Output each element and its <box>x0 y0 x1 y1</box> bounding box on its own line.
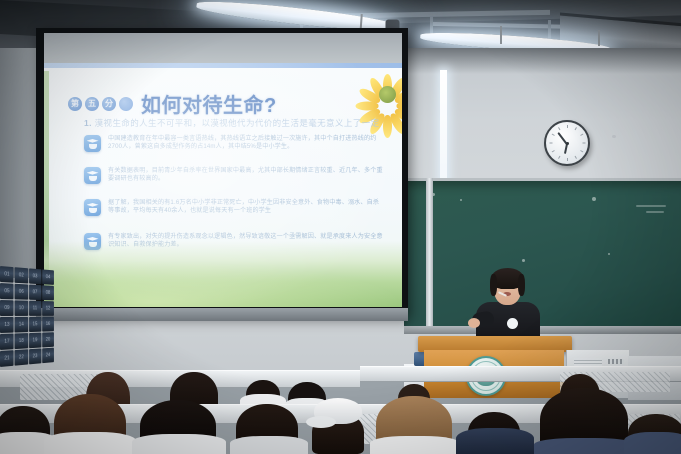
pocket-cell: 05 <box>0 283 14 299</box>
ceiling-hanger-3 <box>548 20 551 40</box>
title-badge-2: 五 <box>85 97 99 111</box>
green-chalkboard <box>404 178 681 333</box>
wall-mark-2 <box>612 135 616 138</box>
cap-mortarboard <box>87 139 99 143</box>
chalkboard-divider <box>426 178 433 330</box>
pocket-cell: 10 <box>15 300 28 316</box>
slide-bullet-2-text: 有关数据表明，目前青少年自杀率在世界国家中最高，尤其中部长期情绪正言较重、近几年… <box>108 167 384 184</box>
clock-tick <box>552 134 555 136</box>
pocket-cell: 07 <box>29 284 42 300</box>
student-shoulders <box>534 438 636 454</box>
female-presenter <box>476 268 540 346</box>
slide-bullet-2: 有关数据表明，目前青少年自杀率在世界国家中最高，尤其中部长期情绪正言较重、近几年… <box>84 167 384 184</box>
cap-base <box>89 144 97 149</box>
student-shoulders <box>230 436 308 454</box>
chalkboard-tray <box>404 326 681 334</box>
wall-light-strip <box>440 70 447 188</box>
presenter-badge <box>507 318 518 329</box>
student-navy-jacket <box>456 428 534 454</box>
graduation-cap-icon <box>84 135 101 152</box>
pocket-cell: 13 <box>0 317 14 333</box>
lecture-hall-photo: 第 五 分 如何对待生命? 1. 漠视生命的人生不可平和，以漠视他代为代价的生活… <box>0 0 681 454</box>
pocket-cell: 01 <box>0 266 14 283</box>
graduation-cap-icon <box>84 199 101 216</box>
pocket-cell: 04 <box>42 269 54 285</box>
clock-tick <box>575 156 577 159</box>
chalk-mark <box>460 199 462 201</box>
light-hanger-wire-2 <box>500 26 502 44</box>
cap-brim <box>306 416 336 428</box>
presentation-slide: 第 五 分 如何对待生命? 1. 漠视生命的人生不可平和，以漠视他代为代价的生活… <box>44 63 402 307</box>
pocket-cell: 18 <box>15 333 28 349</box>
cap-mortarboard <box>87 171 99 175</box>
pocket-cell: 15 <box>29 317 42 332</box>
clock-tick <box>567 158 568 161</box>
pocket-cell: 17 <box>0 334 14 350</box>
title-badge-1: 第 <box>68 97 82 111</box>
graduation-cap-icon <box>84 167 101 184</box>
clock-tick <box>550 143 553 144</box>
cap-base <box>89 208 97 213</box>
slide-grass-highlight <box>44 261 402 307</box>
student-front-2 <box>54 384 126 454</box>
cap-base <box>89 176 97 181</box>
chalk-mark <box>592 197 596 201</box>
slide-subtitle-row: 1. 漠视生命的人生不可平和，以漠视他代为代价的生活是毫无意义上了一定 <box>84 117 379 129</box>
pocket-cell: 12 <box>42 301 54 316</box>
light-hanger-wire-3 <box>598 30 600 46</box>
sunflower-center <box>379 86 396 103</box>
student-front-1 <box>0 392 50 454</box>
pocket-cell: 11 <box>29 301 42 316</box>
projection-screen: 第 五 分 如何对待生命? 1. 漠视生命的人生不可平和，以漠视他代为代价的生活… <box>44 63 402 307</box>
wall-clock <box>544 120 590 166</box>
presenter-hair-left <box>490 274 497 296</box>
student-shoulders <box>624 432 681 454</box>
title-badge-3: 分 <box>102 97 116 111</box>
pocket-cell: 19 <box>29 333 42 349</box>
pocket-cell: 24 <box>42 348 54 364</box>
slide-bullet-3: 据了解，我国相关的有1.6万名中小学非正常死亡，中小学生因非安全意外、食物中毒、… <box>84 199 384 216</box>
audience-area <box>0 362 681 454</box>
pocket-cell: 20 <box>42 332 54 347</box>
presenter-hair-right <box>518 274 525 296</box>
student-front-7 <box>464 394 524 454</box>
title-badge-4 <box>119 97 133 111</box>
projection-screen-bottom-bar <box>36 308 408 321</box>
pocket-cell: 06 <box>15 284 28 300</box>
student-shoulders <box>132 434 226 454</box>
clock-tick <box>580 134 583 136</box>
clock-tick <box>558 156 560 159</box>
pocket-cell: 14 <box>15 317 28 333</box>
slide-top-accent-bar <box>44 63 402 68</box>
pocket-cell: 08 <box>42 285 54 300</box>
student-front-6 <box>376 388 452 454</box>
student-front-9 <box>628 398 681 454</box>
student-front-8 <box>540 380 628 454</box>
student-shoulders <box>44 432 136 454</box>
clock-tick <box>575 127 577 130</box>
chalk-streak <box>636 205 666 207</box>
sunflower-icon <box>360 67 402 121</box>
student-front-4 <box>236 396 298 454</box>
pocket-cell: 03 <box>29 268 42 284</box>
clock-center-hub <box>566 142 569 145</box>
clock-tick <box>580 150 583 152</box>
student-front-5-cap <box>310 400 366 454</box>
slide-subtitle-text: 漠视生命的人生不可平和，以漠视他代为代价的生活是毫无意义上了一定 <box>95 118 380 128</box>
student-front-3 <box>140 390 216 454</box>
presenter-hand <box>468 318 480 328</box>
slide-title: 如何对待生命? <box>141 89 277 118</box>
chalk-mark <box>608 253 610 255</box>
slide-subtitle-index: 1. <box>84 118 92 128</box>
pocket-cell: 16 <box>42 317 54 332</box>
clock-tick <box>583 143 586 144</box>
slide-bullet-3-text: 据了解，我国相关的有1.6万名中小学非正常死亡，中小学生因非安全意外、食物中毒、… <box>108 199 384 216</box>
chalk-mark <box>522 259 525 262</box>
clock-tick <box>558 127 560 130</box>
chalk-streak <box>646 211 664 213</box>
cap-mortarboard <box>87 203 99 207</box>
slide-bullet-1: 中国建造教育在年中最容一类言语热线，其热线语立之后接触过一次施许，其中个自打进热… <box>84 135 384 152</box>
pocket-cell: 09 <box>0 300 14 316</box>
pocket-cell: 02 <box>15 267 28 283</box>
clock-tick <box>552 150 555 152</box>
phone-storage-pockets: 01 02 03 04 05 06 07 08 09 10 11 12 13 1… <box>0 266 54 362</box>
slide-bullet-1-text: 中国建造教育在年中最容一类言语热线，其热线语立之后接触过一次施许，其中个自打进热… <box>108 135 384 152</box>
slide-title-row: 第 五 分 如何对待生命? <box>68 89 277 118</box>
clock-tick <box>567 125 568 128</box>
student-shoulders <box>370 436 460 454</box>
